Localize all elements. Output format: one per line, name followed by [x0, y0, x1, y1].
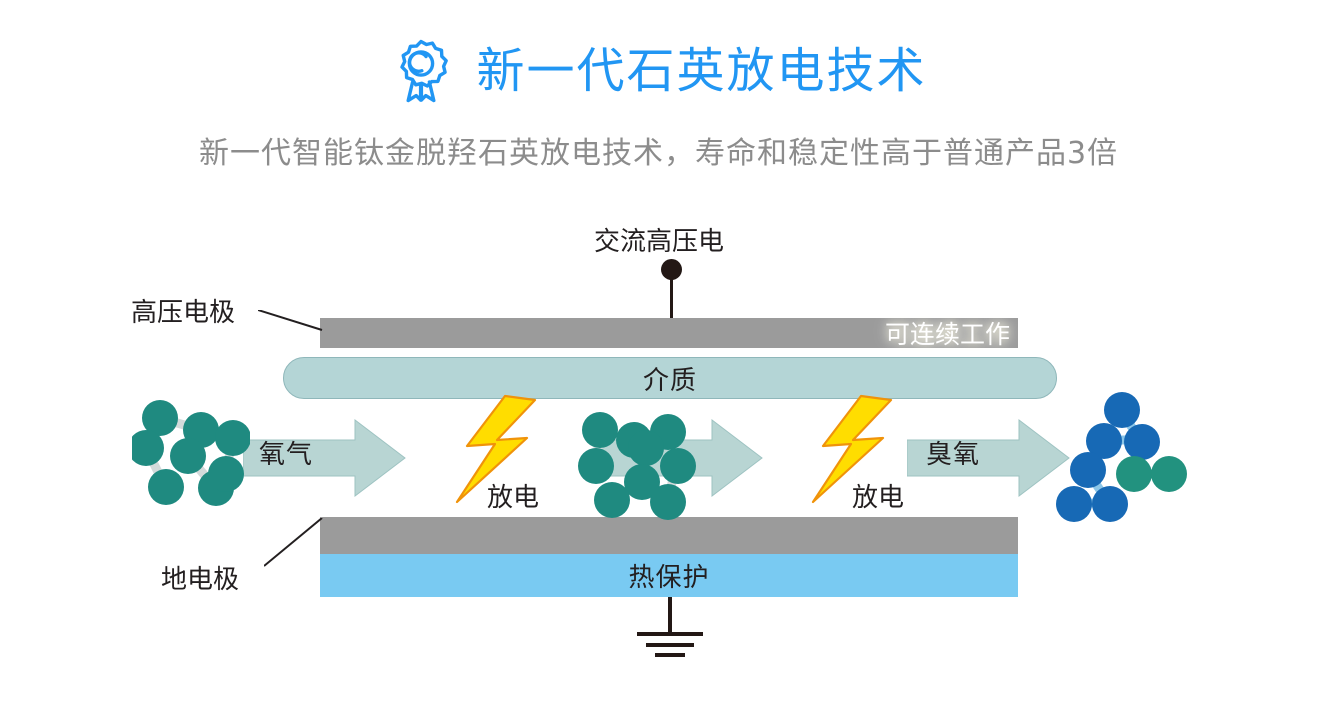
oxygen-molecule-cluster [132, 396, 250, 513]
callout-ground-electrode: 地电极 [161, 559, 239, 596]
dielectric-bar: 介质 [283, 357, 1057, 399]
earth-ground-symbol-icon [625, 597, 715, 664]
oxygen-label: 氧气 [259, 434, 313, 471]
ozone-molecule-cluster [1050, 392, 1190, 539]
thermal-protection-bar: 热保护 [320, 554, 1018, 597]
ozone-label: 臭氧 [926, 434, 980, 471]
leader-line-ground [264, 518, 324, 573]
power-wire [670, 275, 673, 320]
continuous-work-badge: 可连续工作 [885, 315, 1010, 351]
callout-high-voltage-electrode-label: 高压电极 [131, 298, 235, 328]
thermal-protection-label: 热保护 [628, 557, 709, 594]
ac-high-voltage-label: 交流高压电 [594, 221, 724, 258]
leader-line-high-voltage [258, 310, 324, 337]
discharge-label-2: 放电 [852, 477, 904, 514]
discharge-diagram: 交流高压电 可连续工作 介质 热保护 高压电极 地电极 [0, 0, 1317, 723]
callout-high-voltage-electrode: 高压电极 [131, 292, 235, 329]
callout-ground-electrode-label: 地电极 [161, 565, 239, 595]
discharge-label-1: 放电 [487, 477, 539, 514]
dielectric-label: 介质 [643, 360, 697, 397]
diagram-page: 新一代石英放电技术 新一代智能钛金脱羟石英放电技术，寿命和稳定性高于普通产品3倍… [0, 0, 1317, 723]
dissociated-oxygen-cluster [578, 408, 706, 525]
high-voltage-electrode-bar: 可连续工作 [320, 318, 1018, 348]
